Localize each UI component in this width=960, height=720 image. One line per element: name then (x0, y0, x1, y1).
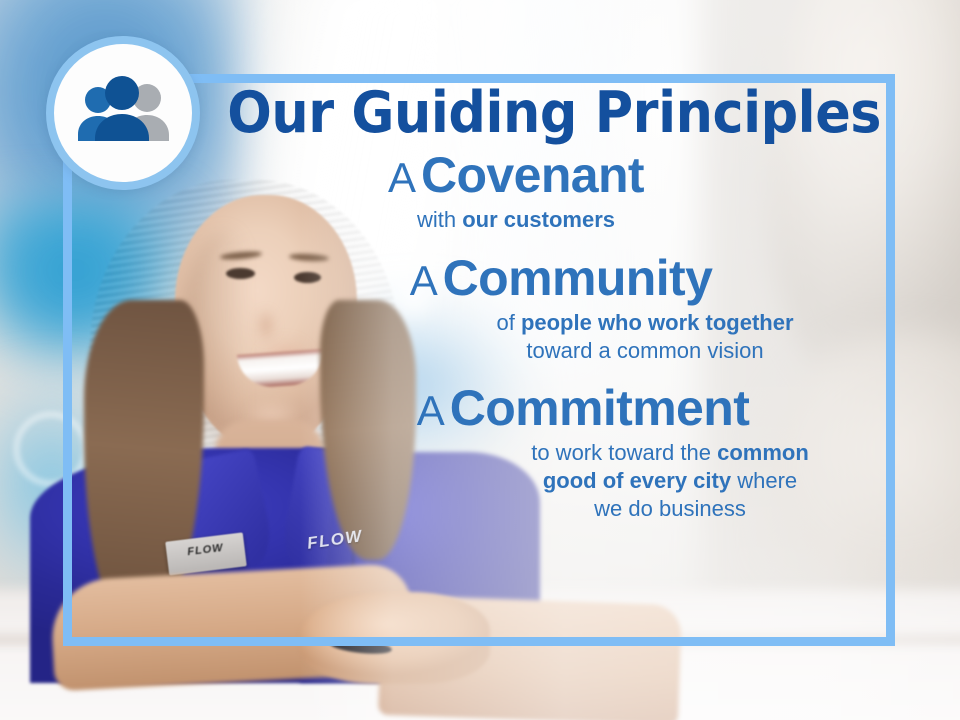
subline-segment: we do business (594, 496, 746, 521)
principle-covenant: A Covenant with our customers (200, 149, 880, 234)
principle-headword: Community (443, 250, 713, 306)
principle-community: A Community of people who work together … (200, 252, 880, 364)
subline-segment: of (496, 310, 520, 335)
people-group-icon (46, 36, 200, 190)
principle-subline: we do business (460, 495, 880, 523)
subline-segment-bold: common (717, 440, 809, 465)
principle-subtext: to work toward the common good of every … (460, 439, 880, 522)
principle-subtext: with our customers (200, 206, 832, 234)
principle-commitment: A Commitment to work toward the common g… (200, 382, 880, 522)
subline-segment: where (731, 468, 797, 493)
subline-segment: toward a common vision (526, 338, 763, 363)
principle-article: A (388, 154, 417, 201)
subline-segment-bold: people who work together (521, 310, 794, 335)
principle-subline: toward a common vision (410, 337, 880, 365)
name-badge-text: FLOW (166, 539, 245, 560)
clasped-hands (300, 592, 490, 684)
principle-subtext: of people who work together toward a com… (410, 309, 880, 364)
principle-subline: of people who work together (410, 309, 880, 337)
principle-subline: good of every city where (460, 467, 880, 495)
subline-segment: with (417, 207, 462, 232)
principle-article: A (410, 257, 439, 304)
poster-canvas: FLOW FLOW Our Guiding Principles (0, 0, 960, 720)
poster-content: Our Guiding Principles A Covenant with o… (200, 84, 880, 523)
principle-heading: A Community (242, 252, 880, 305)
subline-segment: to work toward the (531, 440, 717, 465)
principle-article: A (417, 387, 446, 434)
principle-heading: A Covenant (200, 149, 832, 202)
principle-subline: with our customers (200, 206, 832, 234)
principle-subline: to work toward the common (460, 439, 880, 467)
page-title: Our Guiding Principles (227, 84, 853, 143)
subline-segment-bold: good of every city (543, 468, 731, 493)
subline-segment-bold: our customers (462, 207, 615, 232)
principle-heading: A Commitment (286, 382, 880, 435)
principle-headword: Commitment (450, 380, 750, 436)
principle-headword: Covenant (421, 147, 644, 203)
